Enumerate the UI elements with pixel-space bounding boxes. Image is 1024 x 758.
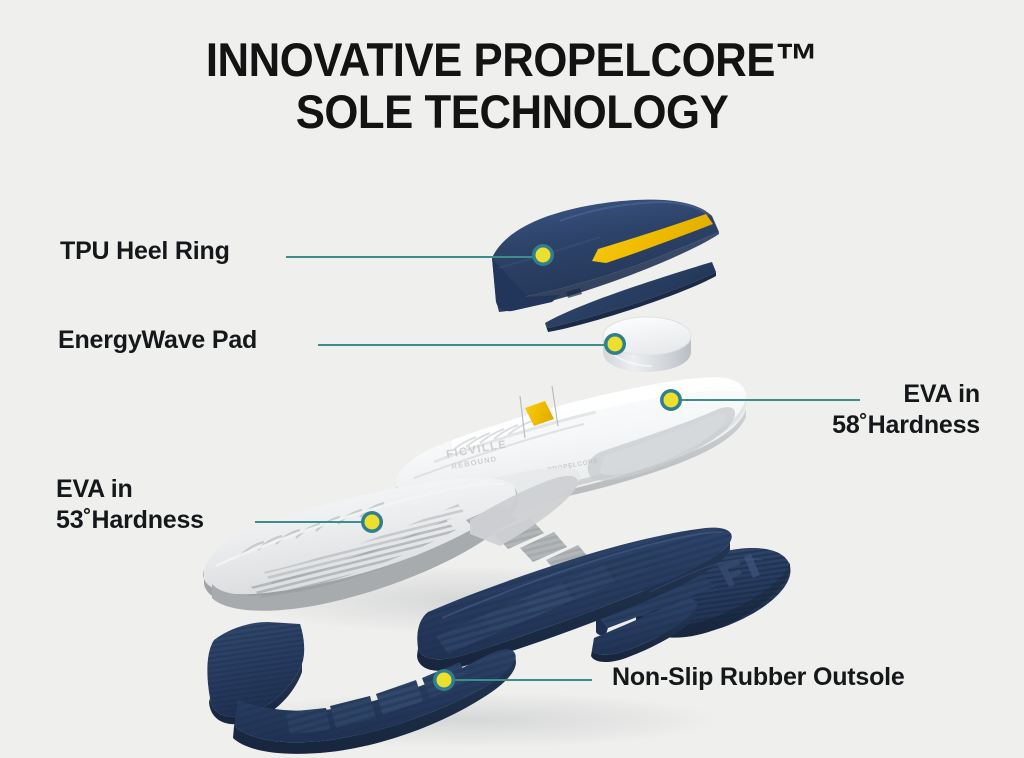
leader-non-slip-outsole	[433, 669, 592, 691]
leader-energywave-pad	[318, 333, 626, 355]
callout-label-eva-58: EVA in 58˚Hardness	[832, 379, 980, 441]
leader-eva-58	[660, 389, 860, 411]
title-line-2: SOLE TECHNOLOGY	[36, 86, 988, 138]
infographic-canvas: INNOVATIVE PROPELCORE™ SOLE TECHNOLOGY	[0, 0, 1024, 758]
callout-label-tpu-heel-ring: TPU Heel Ring	[60, 236, 230, 267]
callout-label-eva-53: EVA in 53˚Hardness	[56, 474, 204, 536]
leader-tpu-heel-ring	[286, 244, 554, 266]
leader-eva-53	[255, 511, 383, 533]
title-line-1: INNOVATIVE PROPELCORE™	[36, 34, 988, 86]
callout-label-energywave-pad: EnergyWave Pad	[58, 325, 257, 356]
page-title: INNOVATIVE PROPELCORE™ SOLE TECHNOLOGY	[0, 34, 1024, 138]
callout-label-non-slip-outsole: Non-Slip Rubber Outsole	[612, 662, 905, 693]
